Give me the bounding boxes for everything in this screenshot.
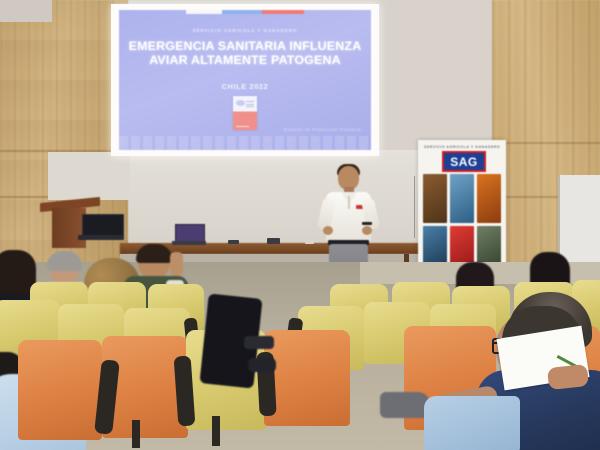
cable-wall [414, 176, 415, 238]
slide-year-label: CHILE 2022 [119, 82, 371, 91]
laptop-on-counter [172, 224, 206, 245]
banner-photo-1 [450, 174, 474, 223]
presenter-wristwatch [362, 222, 372, 225]
attendee-shoe-blue [248, 358, 276, 372]
attendee-jeans-leg [424, 396, 520, 450]
banner-photo-grid [423, 174, 501, 274]
attendee-sneaker [380, 392, 430, 418]
seat-post-b [212, 416, 220, 446]
attendee-sandal [244, 336, 274, 349]
banner-organization-text: SERVICIO AGRICOLA Y GANADERO [418, 145, 506, 149]
seat-row1-1 [18, 340, 102, 440]
sag-logo-text: SAG [450, 155, 478, 169]
left-wall-white-upper [0, 0, 52, 22]
laptop-on-podium [78, 214, 124, 240]
banner-photo-2 [477, 174, 501, 223]
conference-room-photo: SERVICIO AGRICOLA Y GANADERO EMERGENCIA … [0, 0, 600, 450]
seat-row1-4 [264, 330, 350, 426]
left-wall-white-lower [48, 152, 130, 200]
slide-department-text: División de Protección Pecuaria [284, 127, 361, 132]
slide-government-logo [233, 96, 257, 130]
presenter-left-hand [323, 226, 333, 235]
slide-organization-text: SERVICIO AGRICOLA Y GANADERO [119, 28, 371, 33]
counter-object-b [267, 238, 280, 244]
counter-object-c [305, 240, 314, 244]
attendee-hand-writing [547, 364, 589, 390]
presenter-right-hand [362, 226, 372, 235]
seat-post-a [132, 420, 140, 448]
slide-title: EMERGENCIA SANITARIA INFLUENZA AVIAR ALT… [127, 40, 363, 67]
banner-photo-0 [423, 174, 447, 223]
presentation-slide: SERVICIO AGRICOLA Y GANADERO EMERGENCIA … [119, 10, 371, 150]
slide-bottom-pattern [119, 136, 371, 150]
chile-flag-bar [186, 10, 304, 14]
counter-object-a [228, 240, 239, 244]
sag-logo: SAG [442, 151, 486, 172]
